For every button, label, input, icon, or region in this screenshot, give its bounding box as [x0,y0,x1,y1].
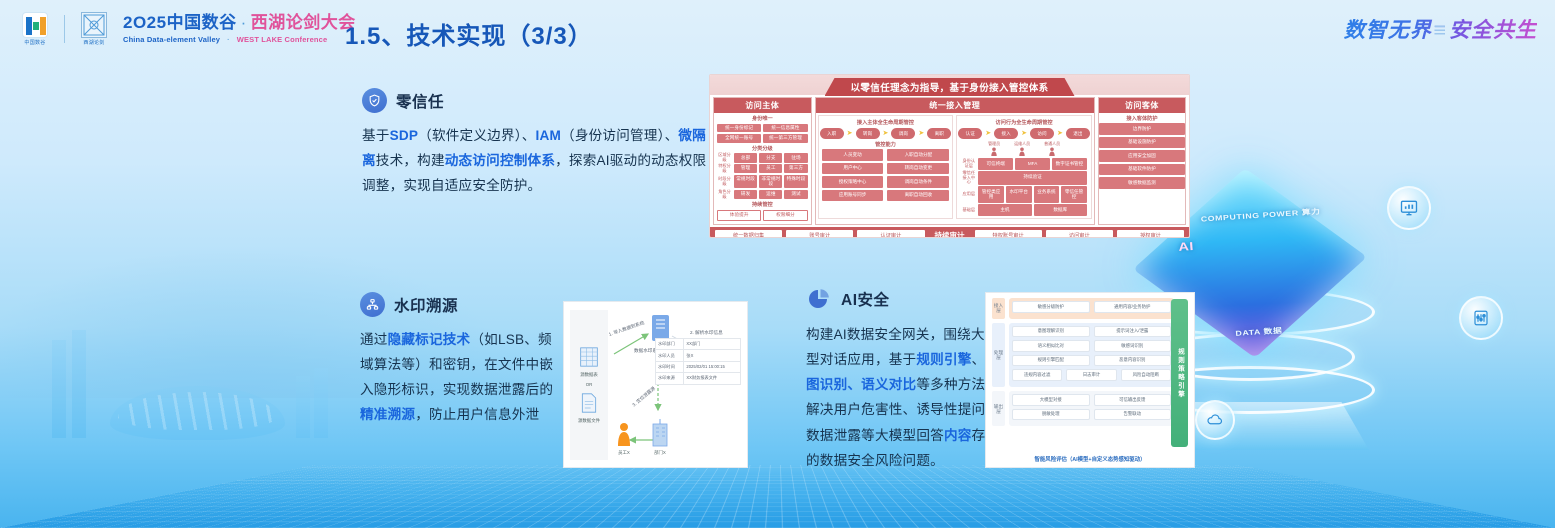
body-text: （身份访问管理）、 [561,128,678,143]
zero-trust-architecture-diagram: 以零信任理念为指导，基于身份接入管控体系 访问主体 身份唯一 统一身份标记 统一… [709,74,1190,238]
audit-chip: 授权审计 [1117,230,1184,238]
diagram-box: 零信任管控 [1061,186,1087,202]
ai-cell-row: 意图理解识别提示词注入/泄露 [1012,326,1171,338]
cloud-data-icon [1195,400,1235,440]
actor: 普通人员 [1044,141,1060,156]
feature-paragraph: 通过隐藏标记技术（如LSB、频域算法等）和密钥，在文件中嵌入隐形标识，实现数据泄… [360,327,560,428]
sliders-icon [1459,296,1503,340]
ai-cell: 告警联动 [1094,409,1172,421]
ai-bands: 接入层敏感分级防护通用内容/业务防护处理层意图理解识别提示词注入/泄露语义相似比… [992,298,1174,426]
block-building [314,368,328,438]
ai-layer-tag: 处理层 [992,323,1005,387]
body-text: （软件定义边界）、 [418,128,535,143]
feature-watermark: 水印溯源 通过隐藏标记技术（如LSB、频域算法等）和密钥，在文件中嵌入隐形标识，… [360,292,560,428]
architecture-banner-text: 以零信任理念为指导，基于身份接入管控体系 [824,78,1074,96]
diagram-box: 主机 [978,204,1031,216]
diagram-box: 边界防护 [1099,123,1185,135]
logo-caption-cn2: 西湖论剑 [83,39,104,46]
shield-check-icon [362,88,387,113]
chip: 特殊时段 [784,175,807,189]
highlighted-term: IAM [536,128,562,143]
brand-dot: · [241,13,247,32]
ai-cell: 敏感分级防护 [1012,301,1090,313]
slogan-separator: ≡ [1434,19,1447,42]
table-row: 水印人员张X [656,350,741,361]
ai-layer-band: 接入层敏感分级防护通用内容/业务防护 [992,298,1174,319]
feature-heading: 零信任 [362,88,714,113]
column-header: 访问主体 [714,98,811,113]
ai-layer-content: 意图理解识别提示词注入/泄露语义相似比对敏感词识别规则引擎匹配恶意内容识别违规内… [1009,323,1174,387]
actor: 管理员 [988,141,1000,156]
highlighted-term: 隐藏标记技术 [388,332,471,347]
chip-row: 全网统一账号 统一第三方管理 [717,134,808,143]
chip: 研发 [734,190,757,199]
diagram-box: 基础设施防护 [1099,137,1185,149]
ai-cell: 日志审计 [1066,369,1116,381]
tower-building [52,340,66,438]
table-cell: 2025/02/01 15:00:15 [684,361,741,372]
ai-layer-content: 大模型对接可信输出反馈脱敏处理告警联动 [1009,391,1174,426]
feature-heading: 水印溯源 [360,292,560,317]
page-header: 中国数谷 西湖论剑 2O25中国数谷·西湖论剑大会 China Data-ele… [0,0,1555,62]
brand-cn-part1: 2O25中国数谷 [123,13,237,32]
ai-diagram-caption: 智能风险评估（AI模型+自定义态势感知驱动） [986,455,1194,463]
sub-label: 访问行为全生命周期管控 [958,119,1090,126]
brand-cn-part2: 西湖论剑大会 [251,13,356,32]
chip: 统一第三方管理 [763,134,807,143]
flow-node: 认证 [958,128,982,139]
west-lake-logo-icon [81,12,107,38]
diagram-box: 应用安全加固 [1099,150,1185,162]
feature-heading: AI安全 [806,286,1002,312]
actor: 运维人员 [1014,141,1030,156]
layer-row: 身份认证层可信终端MFA数字证书管控 [961,158,1087,170]
layer-row: 零信任接入中心持续验证 [961,171,1087,185]
chip: 非常规时段 [759,175,782,189]
layer-row: 基础层主机数据库 [961,204,1087,216]
city-skyline [0,328,340,528]
diagram-box: 应用账号同步 [822,190,884,202]
architecture-column-subject: 访问主体 身份唯一 统一身份标记 统一信息属性 全网统一账号 统一第三方管理 分… [713,97,812,225]
ai-cell-row: 违规内容过滤日志审计风险自动阻断 [1012,369,1171,381]
diagram-box: 入职自动分配 [887,149,949,161]
arrow-icon: ➤ [985,130,991,137]
ai-cell-row: 大模型对接可信输出反馈 [1012,394,1171,406]
sub-label: 接入主体全生命周期管控 [820,119,952,126]
ai-cell: 通用内容/业务防护 [1094,301,1172,313]
diagram-box: MFA [1015,158,1050,170]
feature-ai-security: AI安全 构建AI数据安全网关，围绕大模型对话应用，基于规则引擎、意图识别、语义… [806,286,1002,473]
ai-layer-band: 处理层意图理解识别提示词注入/泄露语义相似比对敏感词识别规则引擎匹配恶意内容识别… [992,323,1174,387]
ai-cell: 规则引擎匹配 [1012,355,1090,367]
body-text: 、 [972,352,986,367]
flow-node: 入职 [820,128,844,139]
row-tag: 时段分级 [717,175,732,189]
table-row: 水印部门XX部门 [656,339,741,350]
feature-zero-trust: 零信任 基于SDP（软件定义边界）、IAM（身份访问管理）、微隔离技术，构建动态… [362,88,714,198]
flow-node: 离职 [927,128,951,139]
chip: 驻场 [784,153,807,162]
body-text: 通过 [360,332,388,347]
sub-label: 接入客体防护 [1099,115,1185,122]
arrow-icon: ➤ [918,130,924,137]
ai-cell: 恶意内容识别 [1094,355,1172,367]
ai-security-gateway-diagram: 接入层敏感分级防护通用内容/业务防护处理层意图理解识别提示词注入/泄露语义相似比… [985,292,1195,468]
audit-chip: 特权账号审计 [975,230,1042,238]
person-icon [1048,147,1056,156]
person-icon [990,147,998,156]
ai-cell: 大模型对接 [1012,394,1090,406]
ai-cell-row: 语义相似比对敏感词识别 [1012,340,1171,352]
brand-en-dot: · [227,35,230,44]
highlighted-term: 精准溯源 [360,407,415,422]
ai-cell: 脱敏处理 [1012,409,1090,421]
logo-west-lake: 西湖论剑 [77,12,111,46]
table-cell: 张X [684,350,741,361]
person-label: 员工X [608,450,640,456]
feature-title: AI安全 [841,288,890,310]
feature-title: 水印溯源 [394,294,458,316]
table-row: 水印来源XX财务报表文件 [656,373,741,384]
ai-cell: 可信输出反馈 [1094,394,1172,406]
diagram-box: 数字证书管控 [1052,158,1087,170]
sub-label: 分类分级 [714,145,811,152]
audit-chip: 统一数据归集 [715,230,782,238]
pie-chart-icon [806,286,832,312]
table-row: 水印时间2025/02/01 15:00:15 [656,361,741,372]
feature-title: 零信任 [396,90,444,112]
logo-china-data-valley: 中国数谷 [18,12,52,46]
arrow-icon: ➤ [1057,130,1063,137]
diagram-box: 转岗自动变更 [887,163,949,175]
column-header: 访问客体 [1099,98,1185,113]
column-header: 统一接入管理 [816,98,1094,113]
ai-cell: 意图理解识别 [1012,326,1090,338]
ai-layer-tag: 接入层 [992,298,1005,319]
chip: 测试 [784,190,807,199]
diagram-box: 调岗自动条件 [887,176,949,188]
brand-text: 2O25中国数谷·西湖论剑大会 China Data-element Valle… [123,14,356,44]
chip-row: 统一身份标记 统一信息属性 [717,124,808,133]
flow-node: 接入 [994,128,1018,139]
data-valley-logo-icon [22,12,48,38]
row-tag: 区域分级 [717,153,732,162]
audit-bar-title: 持续审计 [929,230,971,238]
layer-tag: 基础层 [961,204,976,216]
diagram-box: 基础软件防护 [1099,164,1185,176]
ai-cell-row: 脱敏处理告警联动 [1012,409,1171,421]
logo-caption-cn: 中国数谷 [24,39,45,46]
sub-label: 持续管控 [714,201,811,208]
ai-cell: 提示词注入/泄露 [1094,326,1172,338]
chip: 第三方 [784,164,807,173]
slogan-part1: 数智无界 [1344,19,1432,42]
monitor-chart-icon [1387,186,1431,230]
architecture-column-unified: 统一接入管理 接入主体全生命周期管控 入职➤转岗➤调岗➤离职 管控能力 人员变动… [815,97,1095,225]
brand-lockup: 中国数谷 西湖论剑 2O25中国数谷·西湖论剑大会 China Data-ele… [18,12,356,46]
ai-cell: 风险自动阻断 [1121,369,1171,381]
chip: 权限细分 [763,210,807,221]
layer-tag: 应用层 [961,186,976,202]
diagram-box: 管控类应用 [978,186,1004,202]
chip: 总部 [734,153,757,162]
highlighted-term: SDP [390,128,419,143]
slogan-part2: 安全共生 [1449,19,1537,42]
chip: 管理 [734,164,757,173]
audit-chip: 账号审计 [786,230,853,238]
architecture-column-object: 访问客体 接入客体防护 边界防护基础设施防护应用安全加固基础软件防护敏感数据监测 [1098,97,1186,225]
table-cell: 水印人员 [656,350,684,361]
lifecycle-flow: 入职➤转岗➤调岗➤离职 [820,128,952,139]
chip: 全网统一账号 [717,134,761,143]
layer-tag: 零信任接入中心 [961,171,976,185]
layer-tag: 身份认证层 [961,158,976,170]
flow-node: 访问 [1030,128,1054,139]
highlighted-term: 动态访问控制体系 [445,153,555,168]
table-cell: XX部门 [684,339,741,350]
diagram-box: 人员变动 [822,149,884,161]
stadium-building [110,386,285,440]
ai-cell: 敏感词识别 [1094,340,1172,352]
diagram-box: 持续验证 [978,171,1087,185]
diagram-box: 授权策略中心 [822,176,884,188]
layer-row: 应用层管控类应用水印平台业务系统零信任管控 [961,186,1087,202]
table-cell: XX财务报表文件 [684,373,741,384]
diagram-box: 用户中心 [822,163,884,175]
tagged-rows: 区域分级总部分支驻场特权分级管理员工第三方时段分级常规时段非常规时段特殊时段角色… [714,153,811,199]
chip: 员工 [759,164,782,173]
watermark-node-icon [360,292,385,317]
tagged-chip-row: 区域分级总部分支驻场 [717,153,808,162]
audit-chip: 认证审计 [857,230,924,238]
ai-cell-row: 敏感分级防护通用内容/业务防护 [1012,301,1171,313]
watermark-traceability-diagram: 源数据表 OR 源数据文件 数据水印系统 1. 导入数据到系统 2. 解析水印信… [563,301,748,468]
block-building [296,376,310,438]
architecture-banner: 以零信任理念为指导，基于身份接入管控体系 [710,75,1189,95]
sub-label: 管控能力 [820,141,952,148]
cube-face-data: DATA 数据 [1235,325,1283,338]
brand-title-en: China Data-element Valley·WEST LAKE Conf… [123,35,356,44]
object-items: 边界防护基础设施防护应用安全加固基础软件防护敏感数据监测 [1099,123,1185,189]
ai-layer-tag: 输出层 [992,391,1005,426]
row-tag: 特权分级 [717,164,732,173]
person-icon [616,422,632,448]
body-text: ，防止用户信息外泄 [415,407,539,422]
ai-cell: 语义相似比对 [1012,340,1090,352]
flow-node: 调岗 [891,128,915,139]
control-right-boxes: 入职自动分配转岗自动变更调岗自动条件离职自动回收 [887,149,949,203]
ai-layer-band: 输出层大模型对接可信输出反馈脱敏处理告警联动 [992,391,1174,426]
feature-paragraph: 基于SDP（软件定义边界）、IAM（身份访问管理）、微隔离技术，构建动态访问控制… [362,123,714,198]
diagram-box: 可信终端 [978,158,1013,170]
highlighted-term: 内容 [944,428,972,443]
building-icon [650,418,670,448]
table-cell: 水印时间 [656,361,684,372]
table-cell: 水印来源 [656,373,684,384]
architecture-columns: 访问主体 身份唯一 统一身份标记 统一信息属性 全网统一账号 统一第三方管理 分… [710,95,1189,225]
tagged-chip-row: 角色分级研发运维测试 [717,190,808,199]
chip: 常规时段 [734,175,757,189]
highlighted-term: 规则引擎 [916,352,971,367]
chip: 体验提升 [717,210,761,221]
chip: 运维 [759,190,782,199]
watermark-info-table: 水印部门XX部门水印人员张X水印时间2025/02/01 15:00:15水印来… [655,338,741,385]
arrow-icon: ➤ [1021,130,1027,137]
brand-en-part2: WEST LAKE Conference [237,35,328,44]
dept-label: 部门X [644,450,676,456]
chip: 分支 [759,153,782,162]
diagram-box: 敏感数据监测 [1099,177,1185,189]
ai-layer-content: 敏感分级防护通用内容/业务防护 [1009,298,1174,319]
chip: 统一信息属性 [763,124,807,133]
flow-node: 转岗 [856,128,880,139]
arrow-icon: ➤ [847,130,853,137]
actor-row: 管理员运维人员普通人员 [958,141,1090,156]
sub-label: 身份唯一 [714,115,811,122]
feature-paragraph: 构建AI数据安全网关，围绕大模型对话应用，基于规则引擎、意图识别、语义对比等多种… [806,322,1002,473]
diagram-box: 离职自动回收 [887,190,949,202]
tagged-chip-row: 特权分级管理员工第三方 [717,164,808,173]
cube-face-computing-power: COMPUTING POWER 算力 [1200,207,1320,225]
architecture-audit-bar: 统一数据归集 账号审计 认证审计 持续审计 特权账号审计 访问审计 授权审计 [710,227,1189,238]
event-slogan: 数智无界≡安全共生 [1344,14,1537,44]
perspective-grid [0,465,1555,528]
table-cell: 水印部门 [656,339,684,350]
tagged-chip-row: 时段分级常规时段非常规时段特殊时段 [717,175,808,189]
person-icon [1018,147,1026,156]
row-tag: 角色分级 [717,190,732,199]
brand-title-cn: 2O25中国数谷·西湖论剑大会 [123,14,356,33]
diagram-box: 业务系统 [1034,186,1060,202]
layer-rows: 身份认证层可信终端MFA数字证书管控零信任接入中心持续验证应用层管控类应用水印平… [958,158,1090,216]
audit-chip: 访问审计 [1046,230,1113,238]
step2-label: 2. 解析水印信息 [690,330,723,336]
rule-policy-engine-bar: 规则策略引擎 [1171,299,1188,447]
body-text: 技术，构建 [376,153,445,168]
body-text: 基于 [362,128,390,143]
tower-building [72,330,86,438]
brand-en-part1: China Data-element Valley [123,35,220,44]
brand-divider [64,15,65,43]
ai-cell: 违规内容过滤 [1012,369,1062,381]
ai-cell-row: 规则引擎匹配恶意内容识别 [1012,355,1171,367]
cube-face-ai: AI [1178,239,1194,253]
flow-node: 退出 [1066,128,1090,139]
arrow-icon: ➤ [883,130,889,137]
chip-row: 体验提升 权限细分 [717,210,808,221]
diagram-box: 数据库 [1034,204,1087,216]
chip: 统一身份标记 [717,124,761,133]
access-flow: 认证➤接入➤访问➤退出 [958,128,1090,139]
diagram-box: 水印平台 [1006,186,1032,202]
control-left-boxes: 人员变动用户中心授权策略中心应用账号同步 [822,149,884,203]
page-title: 1.5、技术实现（3/3） [345,16,593,51]
